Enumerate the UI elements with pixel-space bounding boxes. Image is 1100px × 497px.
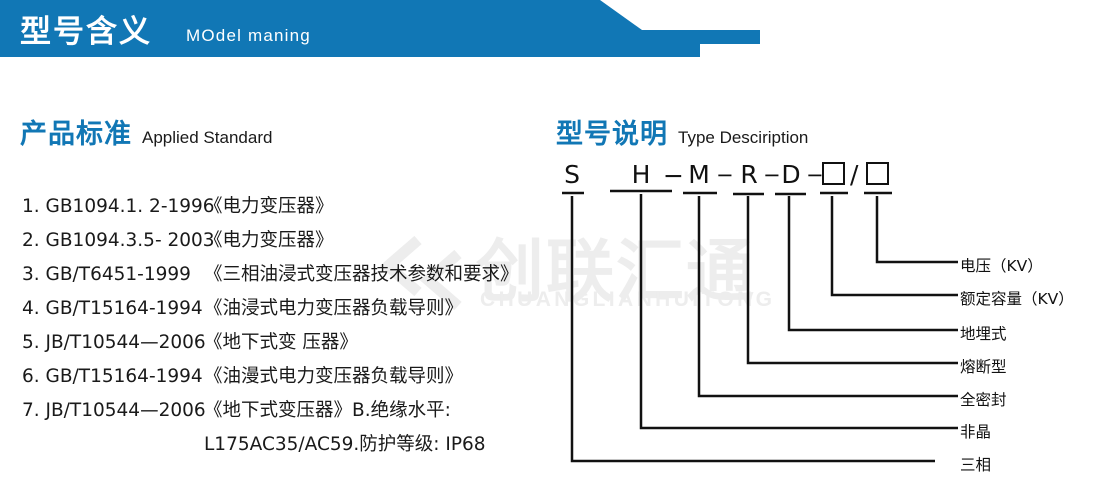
- model-code-diagram: S H − M − R − D − /: [0, 0, 1100, 497]
- callout-label-three-phase: 三相: [960, 453, 991, 475]
- leader-lines: [0, 0, 1100, 497]
- callout-label-buried-type: 地埋式: [960, 322, 1007, 344]
- callout-label-amorphous: 非晶: [960, 420, 991, 442]
- callout-label-voltage: 电压（KV）: [960, 254, 1043, 276]
- callout-label-fully-sealed: 全密封: [960, 388, 1007, 410]
- callout-label-fuse-type: 熔断型: [960, 355, 1007, 377]
- callout-label-rated-capacity: 额定容量（KV）: [960, 287, 1074, 309]
